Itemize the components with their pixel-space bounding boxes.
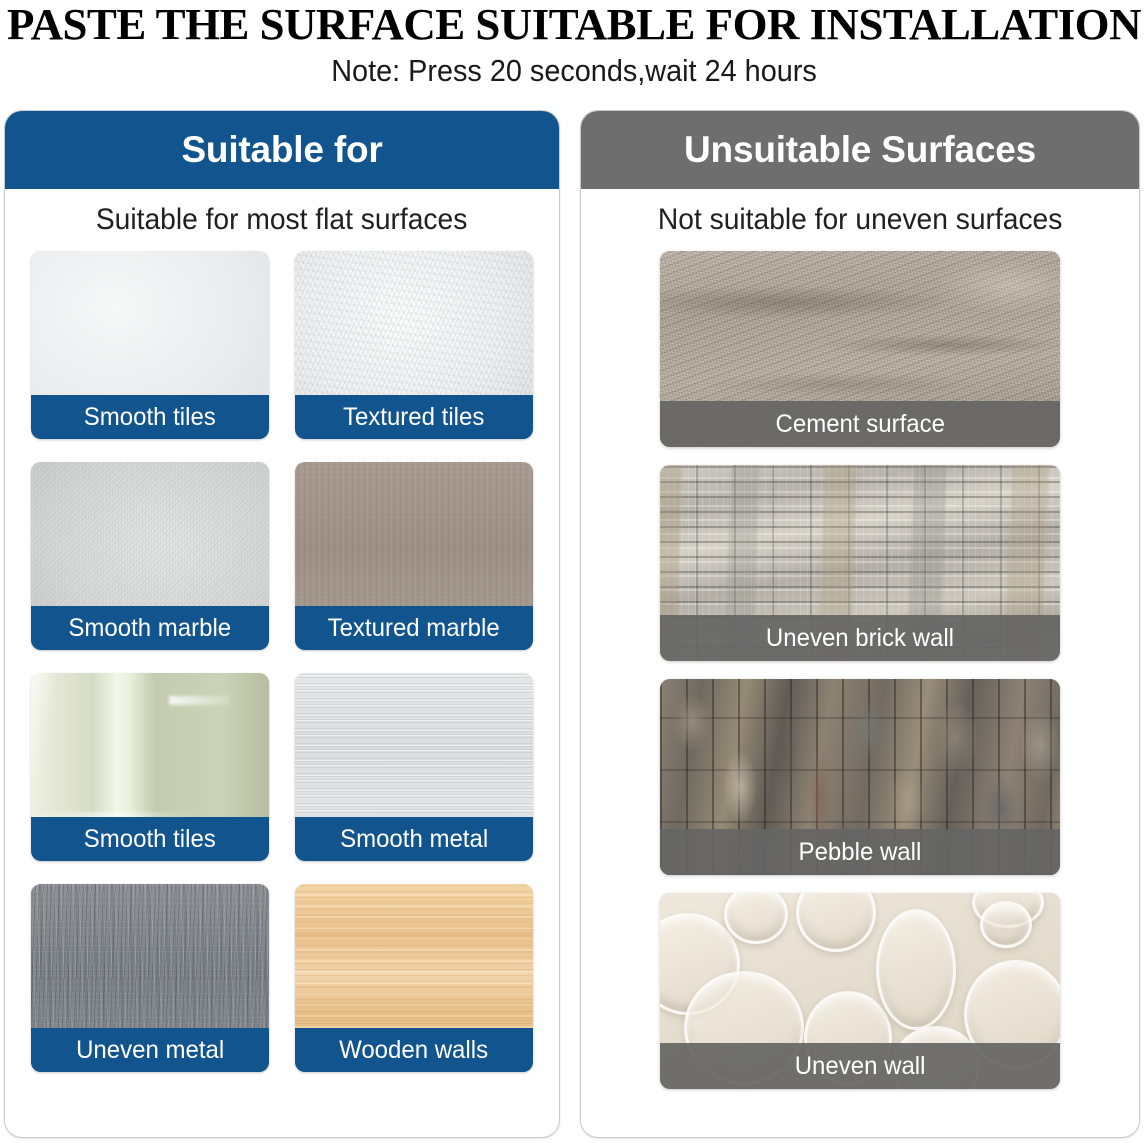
tile-caption: Textured marble: [295, 606, 533, 650]
tile-caption-text: Textured tiles: [343, 403, 484, 432]
suitable-tile-grid: Smooth tiles Textured tiles Smooth marbl…: [5, 251, 559, 1072]
suitable-panel-header: Suitable for: [5, 111, 559, 189]
unsuitable-subtitle-text: Not suitable for uneven surfaces: [658, 203, 1062, 237]
surface-tile[interactable]: Textured tiles: [295, 251, 533, 439]
unsuitable-panel-header: Unsuitable Surfaces: [581, 111, 1139, 189]
unsuitable-panel: Unsuitable Surfaces Not suitable for une…: [580, 110, 1140, 1138]
tile-caption-text: Smooth tiles: [84, 825, 216, 854]
tile-caption-text: Uneven metal: [76, 1036, 224, 1065]
comparison-panels: Suitable for Suitable for most flat surf…: [4, 110, 1144, 1138]
tile-caption-text: Smooth metal: [340, 825, 488, 854]
tile-caption-text: Uneven wall: [795, 1052, 926, 1081]
surface-tile[interactable]: Smooth tiles: [31, 673, 269, 861]
surface-tile[interactable]: Wooden walls: [295, 884, 533, 1072]
suitable-subtitle-text: Suitable for most flat surfaces: [96, 203, 467, 237]
tile-caption: Pebble wall: [660, 829, 1060, 875]
surface-tile[interactable]: Uneven brick wall: [660, 465, 1060, 661]
surface-tile[interactable]: Uneven wall: [660, 893, 1060, 1089]
surface-tile[interactable]: Textured marble: [295, 462, 533, 650]
tile-caption: Cement surface: [660, 401, 1060, 447]
surface-tile[interactable]: Smooth marble: [31, 462, 269, 650]
tile-caption: Uneven wall: [660, 1043, 1060, 1089]
tile-caption: Uneven brick wall: [660, 615, 1060, 661]
page-title: PASTE THE SURFACE SUITABLE FOR INSTALLAT…: [0, 2, 1148, 48]
tile-caption-text: Cement surface: [775, 410, 944, 439]
suitable-panel: Suitable for Suitable for most flat surf…: [4, 110, 560, 1138]
surface-tile[interactable]: Uneven metal: [31, 884, 269, 1072]
tile-caption: Smooth marble: [31, 606, 269, 650]
tile-caption: Smooth tiles: [31, 817, 269, 861]
unsuitable-tile-list: Cement surface Uneven brick wall Pebble …: [581, 251, 1139, 1089]
surface-tile[interactable]: Cement surface: [660, 251, 1060, 447]
tile-caption-text: Wooden walls: [340, 1036, 489, 1065]
suitable-panel-subtitle: Suitable for most flat surfaces: [5, 189, 559, 251]
tile-caption-text: Uneven brick wall: [766, 624, 954, 653]
surface-tile[interactable]: Pebble wall: [660, 679, 1060, 875]
page-subtitle-note: Note: Press 20 seconds,wait 24 hours: [40, 52, 1108, 90]
tile-caption: Wooden walls: [295, 1028, 533, 1072]
tile-caption: Uneven metal: [31, 1028, 269, 1072]
surface-tile[interactable]: Smooth metal: [295, 673, 533, 861]
tile-caption: Smooth tiles: [31, 395, 269, 439]
tile-caption: Smooth metal: [295, 817, 533, 861]
tile-caption-text: Smooth marble: [69, 614, 232, 643]
tile-caption-text: Smooth tiles: [84, 403, 216, 432]
tile-caption-text: Pebble wall: [799, 838, 922, 867]
unsuitable-panel-subtitle: Not suitable for uneven surfaces: [581, 189, 1139, 251]
product-infographic: PASTE THE SURFACE SUITABLE FOR INSTALLAT…: [0, 0, 1148, 1143]
tile-caption: Textured tiles: [295, 395, 533, 439]
tile-caption-text: Textured marble: [328, 614, 500, 643]
surface-tile[interactable]: Smooth tiles: [31, 251, 269, 439]
